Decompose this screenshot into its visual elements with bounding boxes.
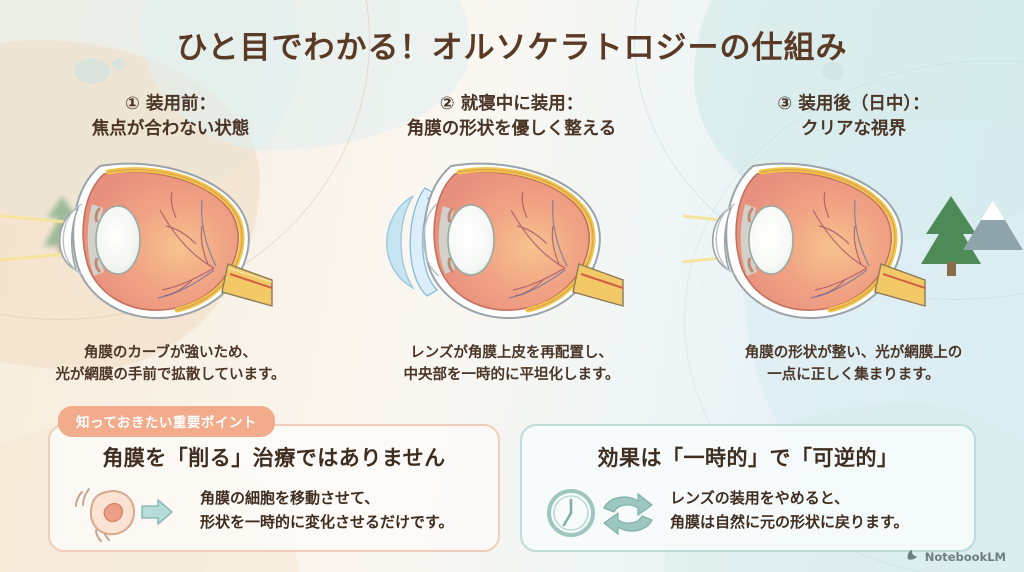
step-1-caption: 角膜のカーブが強いため、 光が網膜の手前で拡散しています。 [0, 342, 341, 387]
step-1-caption-line1: 角膜のカーブが強いため、 [84, 345, 257, 361]
card-left-title: 角膜を「削る」治療ではありません [50, 442, 498, 472]
cycle-arrows-icon [604, 494, 652, 534]
step-3-caption: 角膜の形状が整い、光が網膜上の 一点に正しく集まります。 [683, 342, 1024, 387]
step-2-caption: レンズが角膜上皮を再配置し、 中央部を一時的に平坦化します。 [341, 342, 682, 387]
step-1-caption-line2: 光が網膜の手前で拡散しています。 [0, 364, 341, 386]
step-3-heading-line1: ③ 装用後（日中）： [777, 94, 929, 114]
card-left-body: 角膜の細胞を移動させて、 形状を一時的に変化させるだけです。 [200, 486, 454, 534]
card-right-title: 効果は「一時的」で「可逆的」 [522, 442, 974, 472]
contact-lens-shape [387, 196, 413, 288]
key-point-card-right: 効果は「一時的」で「可逆的」 レンズの装用をやめると、 角膜は自然に元の形状に戻… [520, 424, 976, 552]
footer-brand-label: NotebookLM [925, 550, 1006, 564]
step-2-heading-line1: ② 就寝中に装用： [440, 94, 583, 114]
page-title: ひと目でわかる！オルソケラトロジーの仕組み [0, 22, 1024, 67]
step-3-caption-line1: 角膜の形状が整い、光が網膜上の [745, 345, 963, 361]
eye-diagram-3 [683, 138, 1024, 343]
key-point-badge: 知っておきたい重要ポイント [58, 406, 275, 437]
step-2-caption-line2: 中央部を一時的に平坦化します。 [341, 364, 682, 386]
cell-moving-icon [72, 484, 192, 542]
notebooklm-logo-icon [906, 549, 920, 564]
step-2-heading: ② 就寝中に装用： 角膜の形状を優しく整える [341, 92, 682, 143]
card-right-body-line2: 角膜は自然に元の形状に戻ります。 [670, 510, 909, 534]
card-left-body-line2: 形状を一時的に変化させるだけです。 [200, 510, 454, 534]
steps-row: ① 装用前： 焦点が合わない状態 [0, 92, 1024, 392]
eye-diagram-2 [341, 138, 682, 343]
key-point-card-left: 角膜を「削る」治療ではありません 角膜の細胞を移動させて、 形状を一時的に変化さ… [48, 424, 500, 552]
infographic-canvas: ひと目でわかる！オルソケラトロジーの仕組み ① 装用前： 焦点が合わない状態 [0, 0, 1024, 572]
step-1-heading: ① 装用前： 焦点が合わない状態 [0, 92, 341, 143]
step-3-heading: ③ 装用後（日中）： クリアな視界 [683, 92, 1024, 143]
right-arrow-icon [142, 500, 172, 524]
step-column-1: ① 装用前： 焦点が合わない状態 [0, 92, 341, 143]
step-1-heading-line1: ① 装用前： [125, 94, 216, 114]
eye-diagram-1 [0, 138, 341, 343]
step-3-caption-line2: 一点に正しく集まります。 [683, 364, 1024, 386]
card-right-body-line1: レンズの装用をやめると、 [670, 489, 849, 507]
footer-watermark: NotebookLM [906, 549, 1006, 564]
card-left-body-line1: 角膜の細胞を移動させて、 [200, 489, 379, 507]
step-2-caption-line1: レンズが角膜上皮を再配置し、 [410, 345, 613, 361]
clear-scenery-icon [921, 196, 1023, 276]
card-right-body: レンズの装用をやめると、 角膜は自然に元の形状に戻ります。 [670, 486, 909, 534]
step-column-2: ② 就寝中に装用： 角膜の形状を優しく整える [341, 92, 682, 143]
clock-icon [549, 491, 593, 535]
clock-reversible-icon [544, 484, 664, 542]
step-column-3: ③ 装用後（日中）： クリアな視界 [683, 92, 1024, 143]
